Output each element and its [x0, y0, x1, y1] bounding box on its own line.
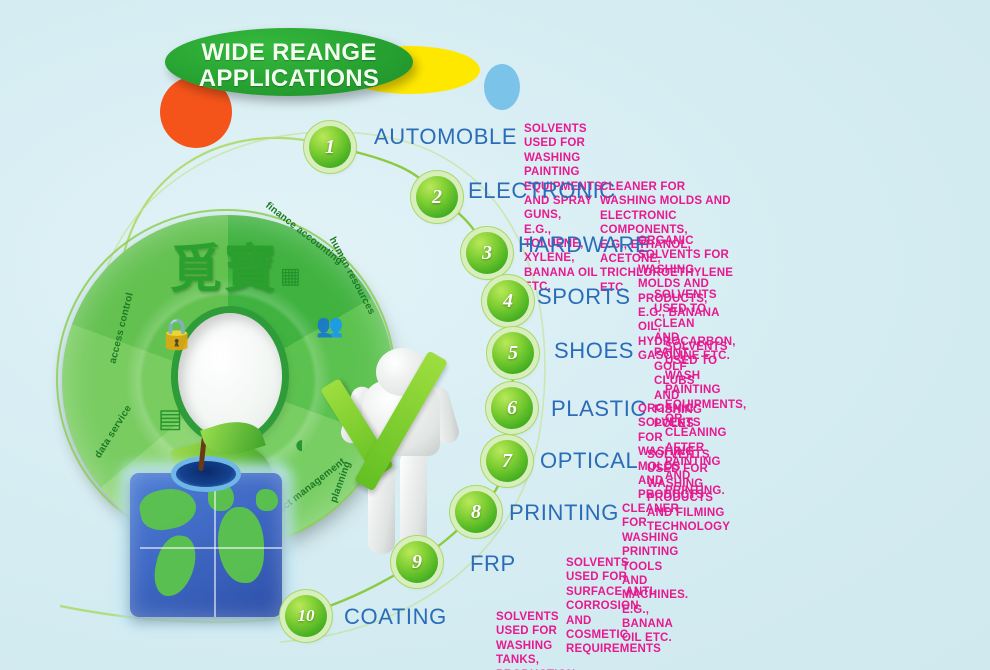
category-label-plastic: PLASTIC	[551, 396, 647, 422]
bullet-number-7[interactable]: 7	[486, 440, 528, 482]
bullet-number-10[interactable]: 10	[285, 595, 327, 637]
category-label-automoble: AUTOMOBLE	[374, 124, 517, 150]
infographic-canvas: WIDE REANGE APPLICATIONS 覓寶 access contr…	[0, 0, 990, 670]
globe-cube	[120, 463, 292, 627]
checkmark-stroke-long	[354, 351, 448, 492]
description-text-1: SOLVENTS USED FOR WASHING PAINTING EQUIP…	[524, 122, 602, 295]
continent-shape	[218, 507, 264, 583]
description-text-9: SOLVENTS USED FOR SURFACE ANTI-CORROSION…	[566, 556, 661, 657]
category-label-optical: OPTICAL	[540, 448, 638, 474]
category-label-coating: COATING	[344, 604, 447, 630]
category-label-printing: PRINTING	[509, 500, 619, 526]
document-icon: ▤	[158, 403, 183, 434]
bullet-number-4[interactable]: 4	[487, 280, 529, 322]
title-line-1: WIDE REANGE	[201, 40, 376, 66]
category-label-hardware: HARDWARE	[518, 232, 650, 258]
bullet-number-2[interactable]: 2	[416, 176, 458, 218]
lock-icon: 🔒	[158, 317, 195, 352]
cube-edge	[140, 547, 282, 549]
cube-top-hole	[176, 461, 236, 487]
mannequin-figure	[340, 320, 460, 560]
category-label-sports: SPORTS	[537, 284, 631, 310]
category-label-electronic: ELECTRONIC	[468, 178, 616, 204]
pie-chart-icon: ◐	[294, 429, 310, 460]
cjk-brand-text: 覓寶	[170, 227, 278, 302]
continent-shape	[256, 489, 278, 511]
page-title: WIDE REANGE APPLICATIONS	[165, 36, 413, 96]
bullet-number-3[interactable]: 3	[466, 232, 508, 274]
bullet-number-1[interactable]: 1	[309, 126, 351, 168]
bullet-number-6[interactable]: 6	[491, 387, 533, 429]
cube-body	[130, 473, 282, 617]
bullet-number-5[interactable]: 5	[492, 332, 534, 374]
cube-edge	[214, 483, 216, 617]
category-label-frp: FRP	[470, 551, 516, 577]
grid-icon: ▦	[280, 263, 301, 289]
description-text-10: SOLVENTS USED FOR WASHING TANKS, PRODUCT…	[496, 610, 575, 670]
bullet-number-9[interactable]: 9	[396, 541, 438, 583]
continent-shape	[136, 484, 199, 535]
checkmark-icon	[332, 358, 482, 490]
title-line-2: APPLICATIONS	[199, 66, 380, 92]
continent-shape	[151, 532, 199, 600]
category-label-shoes: SHOES	[554, 338, 634, 364]
blue-ellipse-decoration	[484, 64, 520, 110]
continent-shape	[208, 483, 234, 511]
bullet-number-8[interactable]: 8	[455, 491, 497, 533]
